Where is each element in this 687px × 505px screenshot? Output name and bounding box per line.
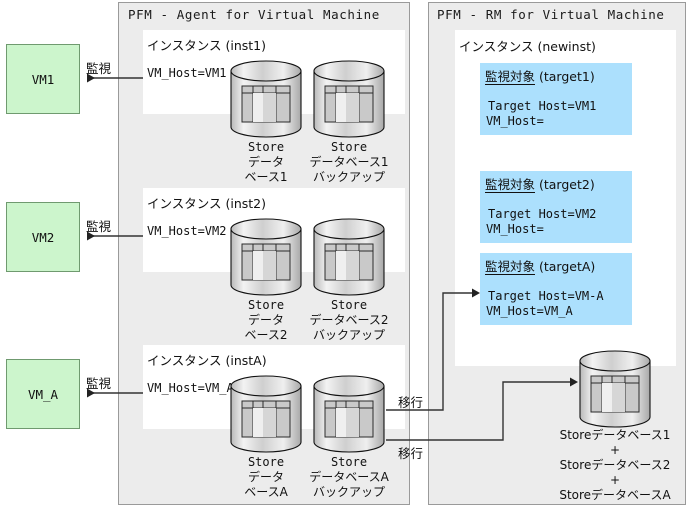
store-db-cylinder-instA bbox=[229, 375, 303, 453]
caption-line: バックアップ bbox=[294, 485, 404, 500]
target-title-id: (target1) bbox=[535, 69, 595, 84]
store-db-backup-cylinder-inst2 bbox=[312, 218, 386, 296]
vm-box-vm2: VM2 bbox=[6, 202, 80, 272]
target-title-underlined: 監視対象 bbox=[485, 69, 535, 85]
caption-line: バックアップ bbox=[294, 328, 404, 343]
caption-line: Storeデータベース1 bbox=[520, 428, 687, 443]
target-title-id: (target2) bbox=[535, 177, 595, 192]
store-db-backup-caption-inst2: Store データベース2 バックアップ bbox=[294, 298, 404, 343]
instance-title-newinst: インスタンス (newinst) bbox=[459, 36, 596, 55]
store-db-cylinder-inst2 bbox=[229, 218, 303, 296]
merged-store-db-cylinder bbox=[578, 350, 652, 428]
store-db-cylinder-inst1 bbox=[229, 60, 303, 138]
diagram-canvas: PFM - Agent for Virtual Machine インスタンス (… bbox=[0, 0, 687, 505]
target-title-underlined: 監視対象 bbox=[485, 259, 535, 275]
target-title-underlined: 監視対象 bbox=[485, 177, 535, 193]
caption-line: データベース1 bbox=[294, 155, 404, 170]
caption-line: データベース2 bbox=[294, 313, 404, 328]
monitor-label-vm1: 監視 bbox=[86, 58, 111, 77]
instance-title-inst1: インスタンス (inst1) bbox=[147, 35, 266, 54]
monitor-label-vm-a: 監視 bbox=[86, 373, 111, 392]
migrate-label-backup: 移行 bbox=[398, 392, 423, 411]
store-db-backup-cylinder-instA bbox=[312, 375, 386, 453]
store-db-backup-caption-instA: Store データベースA バックアップ bbox=[294, 455, 404, 500]
caption-line: + bbox=[520, 473, 687, 488]
target-vmhost-target1: VM_Host= bbox=[486, 114, 544, 128]
vm-box-vm1: VM1 bbox=[6, 44, 80, 114]
monitor-label-vm2: 監視 bbox=[86, 216, 111, 235]
target-title-target1: 監視対象 (target1) bbox=[485, 66, 595, 85]
target-title-id: (targetA) bbox=[535, 259, 595, 274]
instance-kv-instA: VM_Host=VM_A bbox=[147, 381, 234, 395]
instance-kv-inst2: VM_Host=VM2 bbox=[147, 224, 226, 238]
instance-title-instA: インスタンス (instA) bbox=[147, 350, 267, 369]
migrate-label-store: 移行 bbox=[398, 443, 423, 462]
instance-title-inst2: インスタンス (inst2) bbox=[147, 193, 266, 212]
caption-line: データベースA bbox=[294, 470, 404, 485]
merged-store-db-caption: Storeデータベース1 + Storeデータベース2 + Storeデータベー… bbox=[520, 428, 687, 503]
caption-line: Store bbox=[294, 140, 404, 155]
target-title-target2: 監視対象 (target2) bbox=[485, 174, 595, 193]
caption-line: Store bbox=[294, 298, 404, 313]
target-host-targetA: Target Host=VM-A bbox=[488, 289, 604, 303]
target-host-target1: Target Host=VM1 bbox=[488, 99, 596, 113]
target-title-targetA: 監視対象 (targetA) bbox=[485, 256, 595, 275]
target-host-target2: Target Host=VM2 bbox=[488, 207, 596, 221]
instance-kv-inst1: VM_Host=VM1 bbox=[147, 66, 226, 80]
caption-line: + bbox=[520, 443, 687, 458]
caption-line: Store bbox=[294, 455, 404, 470]
target-vmhost-target2: VM_Host= bbox=[486, 222, 544, 236]
caption-line: バックアップ bbox=[294, 170, 404, 185]
rm-panel-title: PFM - RM for Virtual Machine bbox=[437, 7, 665, 22]
agent-panel-title: PFM - Agent for Virtual Machine bbox=[128, 7, 380, 22]
caption-line: StoreデータベースA bbox=[520, 488, 687, 503]
store-db-backup-cylinder-inst1 bbox=[312, 60, 386, 138]
store-db-backup-caption-inst1: Store データベース1 バックアップ bbox=[294, 140, 404, 185]
vm-box-vm-a: VM_A bbox=[6, 359, 80, 429]
caption-line: Storeデータベース2 bbox=[520, 458, 687, 473]
target-vmhost-targetA: VM_Host=VM_A bbox=[486, 304, 573, 318]
